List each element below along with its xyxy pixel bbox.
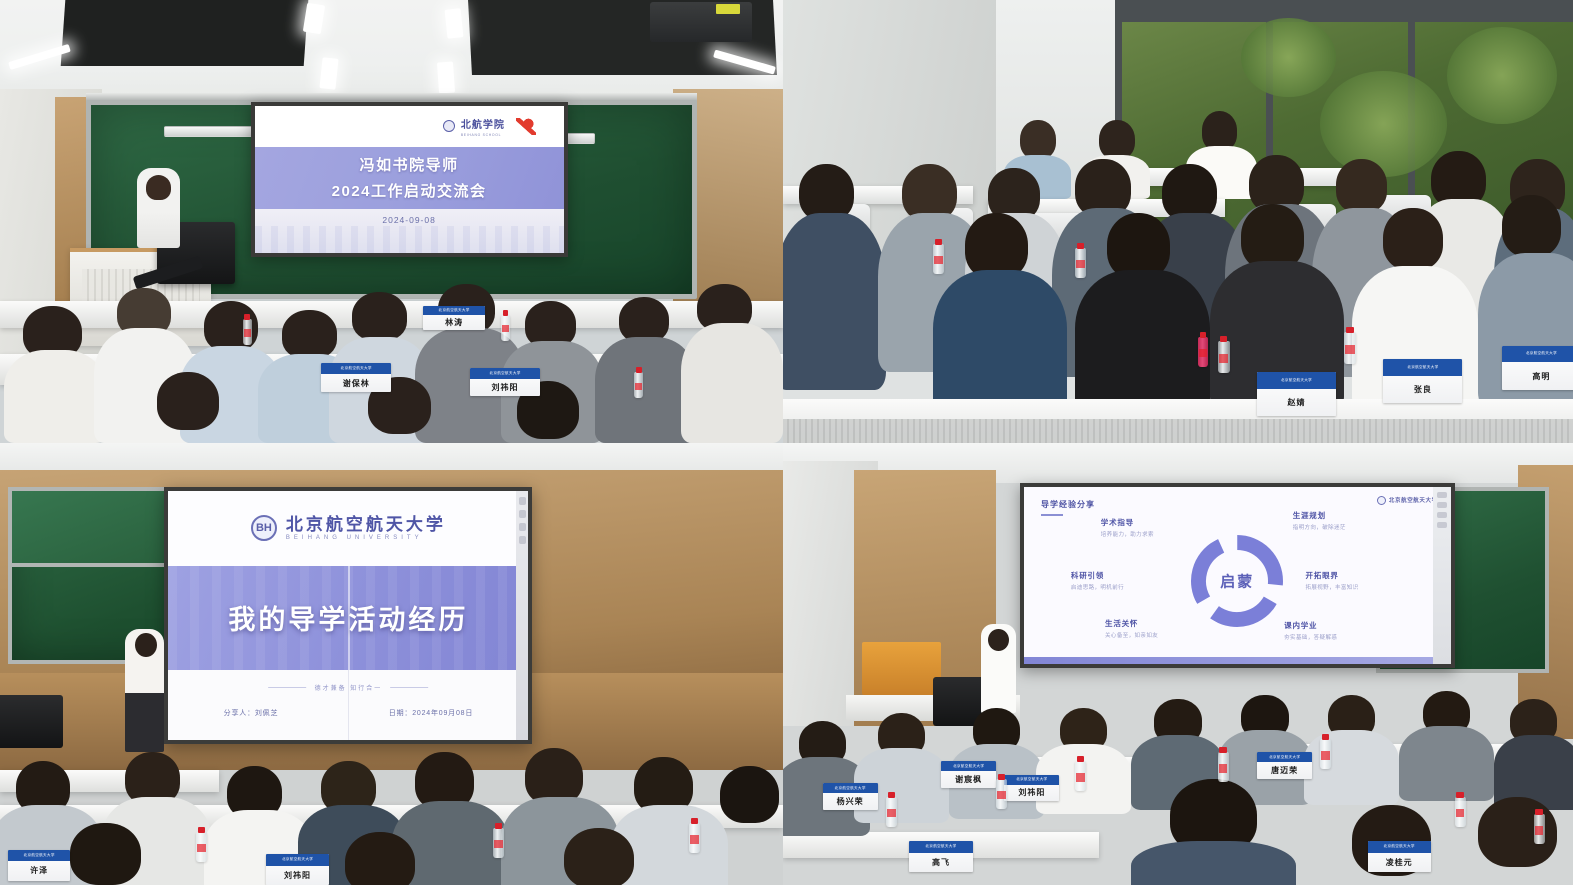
water-bottle <box>933 244 944 274</box>
nameplate: 北京航空航天大学 谢宸枫 <box>941 761 996 788</box>
water-bottle <box>689 823 700 853</box>
control-button-icon[interactable] <box>519 523 526 531</box>
control-button-icon[interactable] <box>1437 512 1446 518</box>
nameplate: 北京航空航天大学 凌桂元 <box>1368 841 1431 872</box>
attendee-head-front <box>1241 204 1304 270</box>
water-bottle <box>1344 332 1356 364</box>
nameplate-name: 张良 <box>1414 376 1432 403</box>
projection-screen-sharing-slide: 导学经验分享 北京航空航天大学 启蒙 学术指导 培养能力，助力求索 生涯规划 指… <box>1020 483 1455 669</box>
beihang-seal-icon: BH <box>251 515 277 541</box>
water-bottle <box>1320 739 1331 769</box>
ceiling-light <box>445 8 464 38</box>
nameplate-name: 刘祎阳 <box>284 866 311 885</box>
nameplate-org: 北京航空航天大学 <box>823 783 878 793</box>
nameplate-name: 林涛 <box>445 315 463 330</box>
item-detail: 关心备至，如亲如友 <box>1105 631 1158 639</box>
nameplate-name: 唐迈荣 <box>1271 762 1298 778</box>
item-heading: 开拓眼界 <box>1305 570 1358 581</box>
slide-footer: 2024-09-08 <box>255 209 564 253</box>
slide-title-line1: 冯如书院导师 <box>360 154 459 175</box>
nameplate-name: 谢保林 <box>343 374 370 392</box>
nameplate-name: 高明 <box>1532 362 1550 389</box>
audience-body <box>1399 726 1494 801</box>
item-detail: 指明方向，破除迷茫 <box>1293 523 1346 531</box>
presenter-name: 刘佩芝 <box>255 710 278 717</box>
slide-header: 北航学院 BEIHANG SCHOOL <box>255 106 564 147</box>
projection-screen-experience-slide: BH 北京航空航天大学 BEIHANG UNIVERSITY 我的导学活动经历 … <box>164 487 532 743</box>
screen-control-strip[interactable] <box>516 491 528 739</box>
slide-footer: 德才兼备 知行合一 分享人：刘佩芝 日期：2024年09月08日 <box>168 670 528 740</box>
slide-item-mid-left: 科研引领 启迪思路，明机前行 <box>1071 570 1124 591</box>
nameplate-org: 北京航空航天大学 <box>1368 841 1431 853</box>
audience-body <box>4 350 106 443</box>
item-heading: 学术指导 <box>1101 517 1154 528</box>
control-button-icon[interactable] <box>1437 502 1446 508</box>
nameplate-org: 北京航空航天大学 <box>1257 752 1312 762</box>
water-bottle <box>1075 248 1086 278</box>
nameplate: 北京航空航天大学 张良 <box>1383 359 1462 403</box>
beihang-seal-icon <box>443 120 455 132</box>
nameplate: 北京航空航天大学 谢保林 <box>321 363 391 392</box>
nameplate-name: 赵婧 <box>1288 389 1306 416</box>
nameplate: 北京航空航天大学 赵婧 <box>1257 372 1336 416</box>
slide-item-top-left: 学术指导 培养能力，助力求索 <box>1101 517 1154 538</box>
tri-blade-diagram: 启蒙 <box>1191 535 1283 627</box>
ceiling-light <box>319 57 338 89</box>
foliage <box>1447 27 1558 124</box>
nameplate: 北京航空航天大学 刘祎阳 <box>1004 775 1059 802</box>
student-head <box>1020 120 1056 160</box>
slide-item-top-right: 生涯规划 指明方向，破除迷茫 <box>1293 510 1346 531</box>
audience-body-front <box>1131 841 1297 885</box>
foliage <box>1241 18 1336 98</box>
audience-body <box>681 323 783 443</box>
control-button-icon[interactable] <box>519 510 526 518</box>
control-button-icon[interactable] <box>519 536 526 544</box>
screen-control-strip[interactable] <box>1433 487 1450 665</box>
nameplate-name: 凌桂元 <box>1386 853 1413 872</box>
presenter-head <box>988 629 1009 651</box>
nameplate: 北京航空航天大学 杨兴荣 <box>823 783 878 810</box>
slide-bottom-bar <box>1024 657 1451 664</box>
date-value: 2024年09月08日 <box>412 710 473 717</box>
attendee-head-front <box>1502 195 1561 257</box>
nameplate-org: 北京航空航天大学 <box>8 850 71 862</box>
water-bottle <box>1218 752 1229 782</box>
water-bottle <box>1455 797 1466 827</box>
water-bottle <box>1534 814 1545 844</box>
water-bottle <box>196 832 207 862</box>
attendee-head-front <box>965 213 1028 279</box>
diagram-center-label: 启蒙 <box>1220 570 1254 591</box>
slide-item-bottom-left: 生活关怀 关心备至，如亲如友 <box>1105 618 1158 639</box>
nameplate-org: 北京航空航天大学 <box>1502 346 1573 363</box>
slide-date: 2024-09-08 <box>382 215 435 225</box>
water-bottle <box>501 315 510 341</box>
fengru-flame-icon <box>516 118 536 135</box>
item-detail: 夯实基础，答疑解惑 <box>1284 633 1337 641</box>
nameplate-name: 杨兴荣 <box>837 793 864 809</box>
control-button-icon[interactable] <box>519 497 526 505</box>
control-button-icon[interactable] <box>1437 522 1446 528</box>
audience-head-front <box>1478 797 1557 868</box>
nameplate-org: 北京航空航天大学 <box>1004 775 1059 785</box>
audience-head <box>720 766 779 823</box>
item-heading: 生活关怀 <box>1105 618 1158 629</box>
nameplate: 北京航空航天大学 林涛 <box>423 306 486 330</box>
campus-skyline-graphic <box>255 226 564 252</box>
water-bottle <box>996 779 1007 809</box>
ceiling-light <box>437 62 455 94</box>
orange-cabinet <box>862 642 941 695</box>
attendee-head-front <box>1383 208 1442 270</box>
nameplate: 北京航空航天大学 许泽 <box>8 850 71 881</box>
university-name: 北京航空航天大学 <box>1389 496 1438 504</box>
window-header-frame <box>1115 0 1573 22</box>
control-button-icon[interactable] <box>1437 492 1446 498</box>
water-bottle <box>1075 761 1086 791</box>
nameplate-org: 北京航空航天大学 <box>941 761 996 771</box>
slide-header: BH 北京航空航天大学 BEIHANG UNIVERSITY <box>168 491 528 566</box>
attendee-head <box>1336 159 1387 212</box>
audience-head <box>157 372 220 430</box>
slide-university-logo: 北京航空航天大学 BEIHANG UNIVERSITY <box>286 516 446 541</box>
item-heading: 课内学业 <box>1284 620 1337 631</box>
audience-head <box>282 310 337 359</box>
beihang-seal-icon <box>1377 496 1386 505</box>
foliage <box>1320 71 1446 177</box>
nameplate: 北京航空航天大学 高明 <box>1502 346 1573 390</box>
nameplate-name: 刘祎阳 <box>492 379 519 397</box>
nameplate-org: 北京航空航天大学 <box>470 368 540 379</box>
photo-panel-bottom-right: 导学经验分享 北京航空航天大学 启蒙 学术指导 培养能力，助力求索 生涯规划 指… <box>783 443 1573 885</box>
nameplate-org: 北京航空航天大学 <box>321 363 391 374</box>
nameplate-org: 北京航空航天大学 <box>266 854 329 866</box>
nameplate-org: 北京航空航天大学 <box>909 841 972 853</box>
nameplate-org: 北京航空航天大学 <box>1383 359 1462 376</box>
attendee-head-front <box>1107 213 1170 279</box>
slide-title-band: 我的导学活动经历 <box>168 566 528 670</box>
photo-panel-bottom-left: BH 北京航空航天大学 BEIHANG UNIVERSITY 我的导学活动经历 … <box>0 443 783 885</box>
item-detail: 拓展视野，丰富知识 <box>1305 583 1358 591</box>
nameplate: 北京航空航天大学 高飞 <box>909 841 972 872</box>
item-heading: 生涯规划 <box>1293 510 1346 521</box>
ceiling-void-left <box>60 0 307 66</box>
audience-head <box>352 292 407 341</box>
projector-label <box>716 4 739 14</box>
audience-head-front <box>345 832 415 885</box>
nameplate-org: 北京航空航天大学 <box>1257 372 1336 389</box>
nameplate: 北京航空航天大学 刘祎阳 <box>266 854 329 885</box>
photo-panel-top-right: 北京航空航天大学 赵婧 北京航空航天大学 张良 北京航空航天大学 高明 <box>783 0 1573 443</box>
nameplate-org: 北京航空航天大学 <box>423 306 486 315</box>
slide-org-logo: 北航学院 BEIHANG SCHOOL <box>461 115 505 137</box>
water-bottle <box>1218 341 1230 373</box>
water-bottle <box>243 319 252 345</box>
slide-title-band: 冯如书院导师 2024工作启动交流会 <box>255 147 564 209</box>
university-motto: 德才兼备 知行合一 <box>315 683 383 692</box>
slide-title-line2: 2024工作启动交流会 <box>332 180 487 201</box>
photo-collage-grid: 北航学院 BEIHANG SCHOOL 冯如书院导师 2024工作启动交流会 2… <box>0 0 1573 885</box>
podium-monitor <box>0 695 63 748</box>
thermos-bottle <box>1198 337 1208 367</box>
slide-title: 我的导学活动经历 <box>228 598 468 637</box>
presenter-label: 分享人： <box>224 710 255 717</box>
footer-divider <box>348 670 349 740</box>
presenter-head <box>146 175 171 200</box>
audience-head-front <box>564 828 634 885</box>
attendee-body-front <box>933 270 1067 416</box>
water-bottle <box>886 797 897 827</box>
slide-title: 导学经验分享 <box>1041 499 1095 510</box>
item-detail: 启迪思路，明机前行 <box>1071 583 1124 591</box>
audience-head-front <box>70 823 140 885</box>
nameplate-name: 许泽 <box>30 861 48 880</box>
photo-panel-top-left: 北航学院 BEIHANG SCHOOL 冯如书院导师 2024工作启动交流会 2… <box>0 0 783 443</box>
attendee-body <box>783 213 886 390</box>
nameplate-name: 刘祎阳 <box>1018 785 1045 801</box>
front-desk-panel <box>783 419 1573 443</box>
slide-item-bottom-right: 课内学业 夯实基础，答疑解惑 <box>1284 620 1337 641</box>
nameplate-name: 谢宸枫 <box>955 771 982 787</box>
projection-screen-opening-slide: 北航学院 BEIHANG SCHOOL 冯如书院导师 2024工作启动交流会 2… <box>251 102 568 257</box>
slide-item-mid-right: 开拓眼界 拓展视野，丰富知识 <box>1305 570 1358 591</box>
date-label: 日期： <box>389 710 412 717</box>
water-bottle <box>634 372 643 398</box>
audience-body <box>1304 730 1399 805</box>
attendee-body-front <box>1075 270 1209 416</box>
student-head <box>1202 111 1238 151</box>
student-head <box>1099 120 1135 160</box>
nameplate: 北京航空航天大学 唐迈荣 <box>1257 752 1312 779</box>
water-bottle <box>493 828 504 858</box>
slide-university-logo: 北京航空航天大学 <box>1377 496 1438 505</box>
item-detail: 培养能力，助力求索 <box>1101 530 1154 538</box>
slide-date-meta: 日期：2024年09月08日 <box>389 708 473 718</box>
item-heading: 科研引领 <box>1071 570 1124 581</box>
nameplate-name: 高飞 <box>932 853 950 872</box>
slide-presenter-meta: 分享人：刘佩芝 <box>224 708 279 718</box>
nameplate: 北京航空航天大学 刘祎阳 <box>470 368 540 397</box>
